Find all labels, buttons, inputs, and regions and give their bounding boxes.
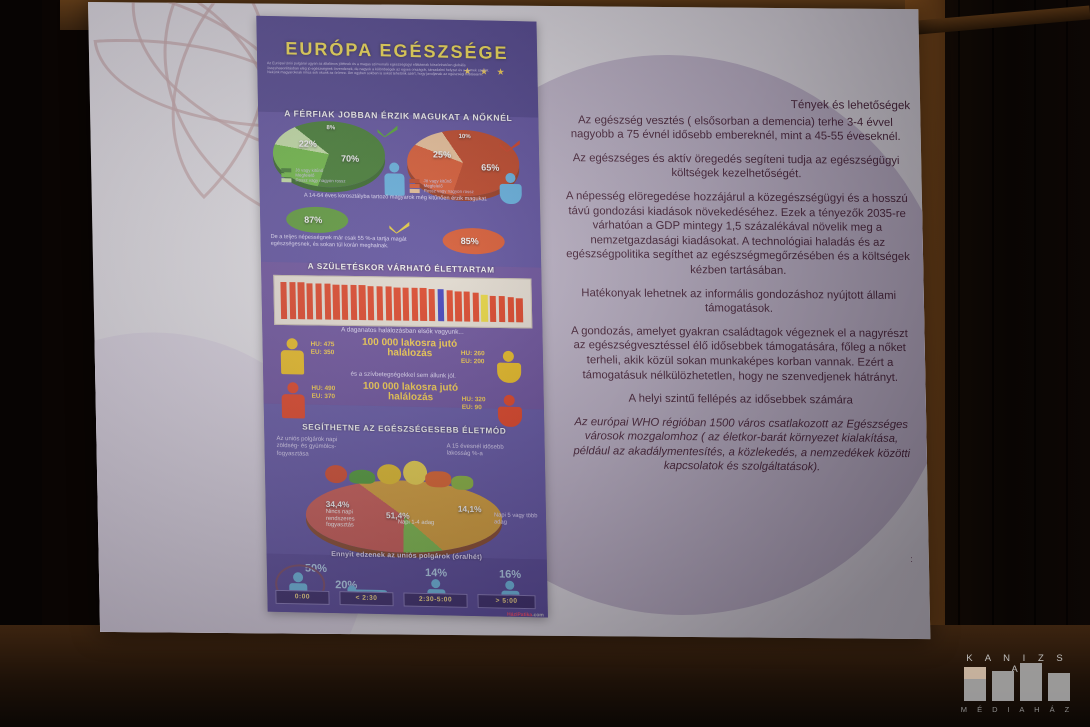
- life-expectancy-bar: [437, 290, 444, 322]
- vegetable-icon: [377, 464, 401, 484]
- life-expectancy-bar: [298, 283, 305, 320]
- paragraph-2: A népesség elöregedése hozzájárul a köze…: [562, 189, 914, 280]
- legend-women-item-2: Rossz vagy nagyon rossz: [424, 188, 474, 194]
- cancer-male-eu: EU: 350: [311, 349, 335, 357]
- paragraph-4: A gondozás, amelyet gyakran családtagok …: [564, 324, 915, 385]
- trailing-dots: :: [910, 557, 913, 562]
- lifestyle-note-right: A 15 évesnél idősebb lakosság %-a: [447, 443, 517, 459]
- life-expectancy-bar: [429, 289, 436, 321]
- life-expectancy-bar: [420, 288, 427, 321]
- life-expectancy-bar: [385, 287, 392, 321]
- exercise-range-1: < 2:30: [339, 591, 393, 606]
- life-expectancy-bar: [472, 293, 479, 322]
- exercise-pct-3: 16%: [499, 569, 521, 581]
- pie-women-value-0: 25%: [433, 149, 451, 159]
- watermark-bar-2: [992, 671, 1014, 701]
- blob-green-value: 87%: [304, 215, 322, 225]
- check-mark-red-icon: [499, 139, 521, 152]
- slide-text-column: Tények és lehetőségek Az egészség veszté…: [560, 96, 918, 485]
- exercise-range-3: > 5:00: [477, 594, 535, 609]
- life-expectancy-bar: [446, 290, 453, 321]
- photo-of-projected-slide: EURÓPA EGÉSZSÉGE ★ ★ ★ Az Európai Unió p…: [0, 0, 1090, 727]
- life-expectancy-bar: [307, 283, 314, 319]
- life-expectancy-bar: [411, 288, 418, 321]
- life-expectancy-bar: [359, 286, 366, 321]
- heart-male-eu: EU: 370: [312, 393, 336, 401]
- watermark-bar-3: [1020, 663, 1042, 701]
- life-expectancy-bar: [341, 285, 348, 320]
- life-expectancy-bar: [315, 284, 322, 320]
- heart-center-text: 100 000 lakosra jutó halálozás: [355, 382, 465, 404]
- vegetable-icon: [349, 469, 375, 484]
- fruitveg-label-2: Napi 5 vagy több adag: [494, 512, 540, 526]
- life-expectancy-chart: [273, 275, 532, 329]
- vegetable-icon: [425, 471, 451, 488]
- fruitveg-value-2: 14,1%: [458, 504, 482, 514]
- slide-heading: Tények és lehetőségek: [560, 96, 910, 114]
- infographic-poster: EURÓPA EGÉSZSÉGE ★ ★ ★ Az Európai Unió p…: [256, 16, 548, 618]
- life-expectancy-bar: [350, 285, 357, 320]
- poster-intro-text: Az Európai Unió polgárai ugyan az általá…: [267, 61, 496, 107]
- life-expectancy-bar: [289, 282, 296, 319]
- life-expectancy-bar: [490, 295, 497, 321]
- life-expectancy-bar: [376, 286, 383, 320]
- exercise-range-2: 2:30-5:00: [403, 592, 467, 607]
- life-expectancy-bar: [333, 284, 340, 319]
- paragraph-0: Az egészség vesztés ( elsősorban a demen…: [560, 113, 911, 145]
- paragraph-6: Az európai WHO régióban 1500 város csatl…: [566, 415, 917, 476]
- pie-men-value-2: 8%: [326, 125, 335, 131]
- vegetable-icon: [451, 476, 473, 490]
- vegetable-icon: [403, 461, 427, 485]
- cancer-female-eu: EU: 200: [461, 358, 485, 366]
- blob-orange-value: 85%: [461, 236, 479, 246]
- exercise-pct-2: 14%: [425, 567, 447, 579]
- watermark-bar-4: [1048, 673, 1070, 701]
- life-expectancy-bar: [324, 284, 331, 320]
- paragraph-1: Az egészséges és aktív öregedés segíteni…: [561, 151, 912, 183]
- pie-men-value-1: 70%: [341, 153, 359, 163]
- life-expectancy-bar: [368, 286, 375, 320]
- hazipatika-logo: HáziPatika.com: [507, 612, 544, 618]
- life-expectancy-bar: [481, 295, 488, 322]
- projection-screen: EURÓPA EGÉSZSÉGE ★ ★ ★ Az Európai Unió p…: [88, 2, 931, 649]
- watermark-bottom-text: M É D I A H Á Z: [960, 705, 1074, 714]
- check-mark-green-icon: [376, 124, 398, 137]
- stage-curtain: [930, 0, 1090, 727]
- life-expectancy-bar: [403, 287, 410, 320]
- pie-women-value-1: 65%: [481, 162, 499, 172]
- legend-men-item-2: Rossz vagy nagyon rossz: [295, 177, 345, 183]
- life-expectancy-bar: [455, 291, 462, 322]
- fruitveg-label-0: Nincs napi rendszeres fogyasztás: [326, 509, 382, 530]
- paragraph-3: Hatékonyak lehetnek az informális gondoz…: [564, 286, 915, 318]
- room-wall-left: [36, 0, 88, 727]
- lifestyle-note-left: Az uniós polgárok napi zöldség- és gyümö…: [276, 436, 356, 460]
- pie-men-value-0: 22%: [299, 139, 317, 149]
- watermark-bar-1-highlight: [964, 667, 986, 679]
- fruitveg-value-0: 34,4%: [326, 499, 350, 509]
- life-expectancy-bar: [499, 296, 506, 322]
- life-expectancy-bar: [464, 292, 471, 322]
- person-lifting-head-icon: [505, 581, 514, 590]
- life-expectancy-bar: [516, 298, 523, 322]
- heart-female-eu: EU: 90: [462, 404, 482, 412]
- broadcaster-watermark: K A N I Z S A M É D I A H Á Z: [958, 649, 1076, 715]
- pie-women-value-2: 10%: [459, 134, 471, 140]
- life-expectancy-bar: [280, 282, 287, 319]
- person-active-head-icon: [431, 579, 440, 588]
- cancer-center-text: 100 000 lakosra jutó halálozás: [354, 338, 464, 360]
- life-expectancy-bar: [507, 297, 514, 322]
- life-expectancy-bar: [394, 287, 401, 321]
- paragraph-5: A helyi szintű fellépés az idősebbek szá…: [566, 391, 916, 409]
- exercise-range-0: 0:00: [275, 590, 329, 605]
- check-mark-yellow-icon: [388, 220, 410, 233]
- vegetable-icon: [325, 465, 347, 483]
